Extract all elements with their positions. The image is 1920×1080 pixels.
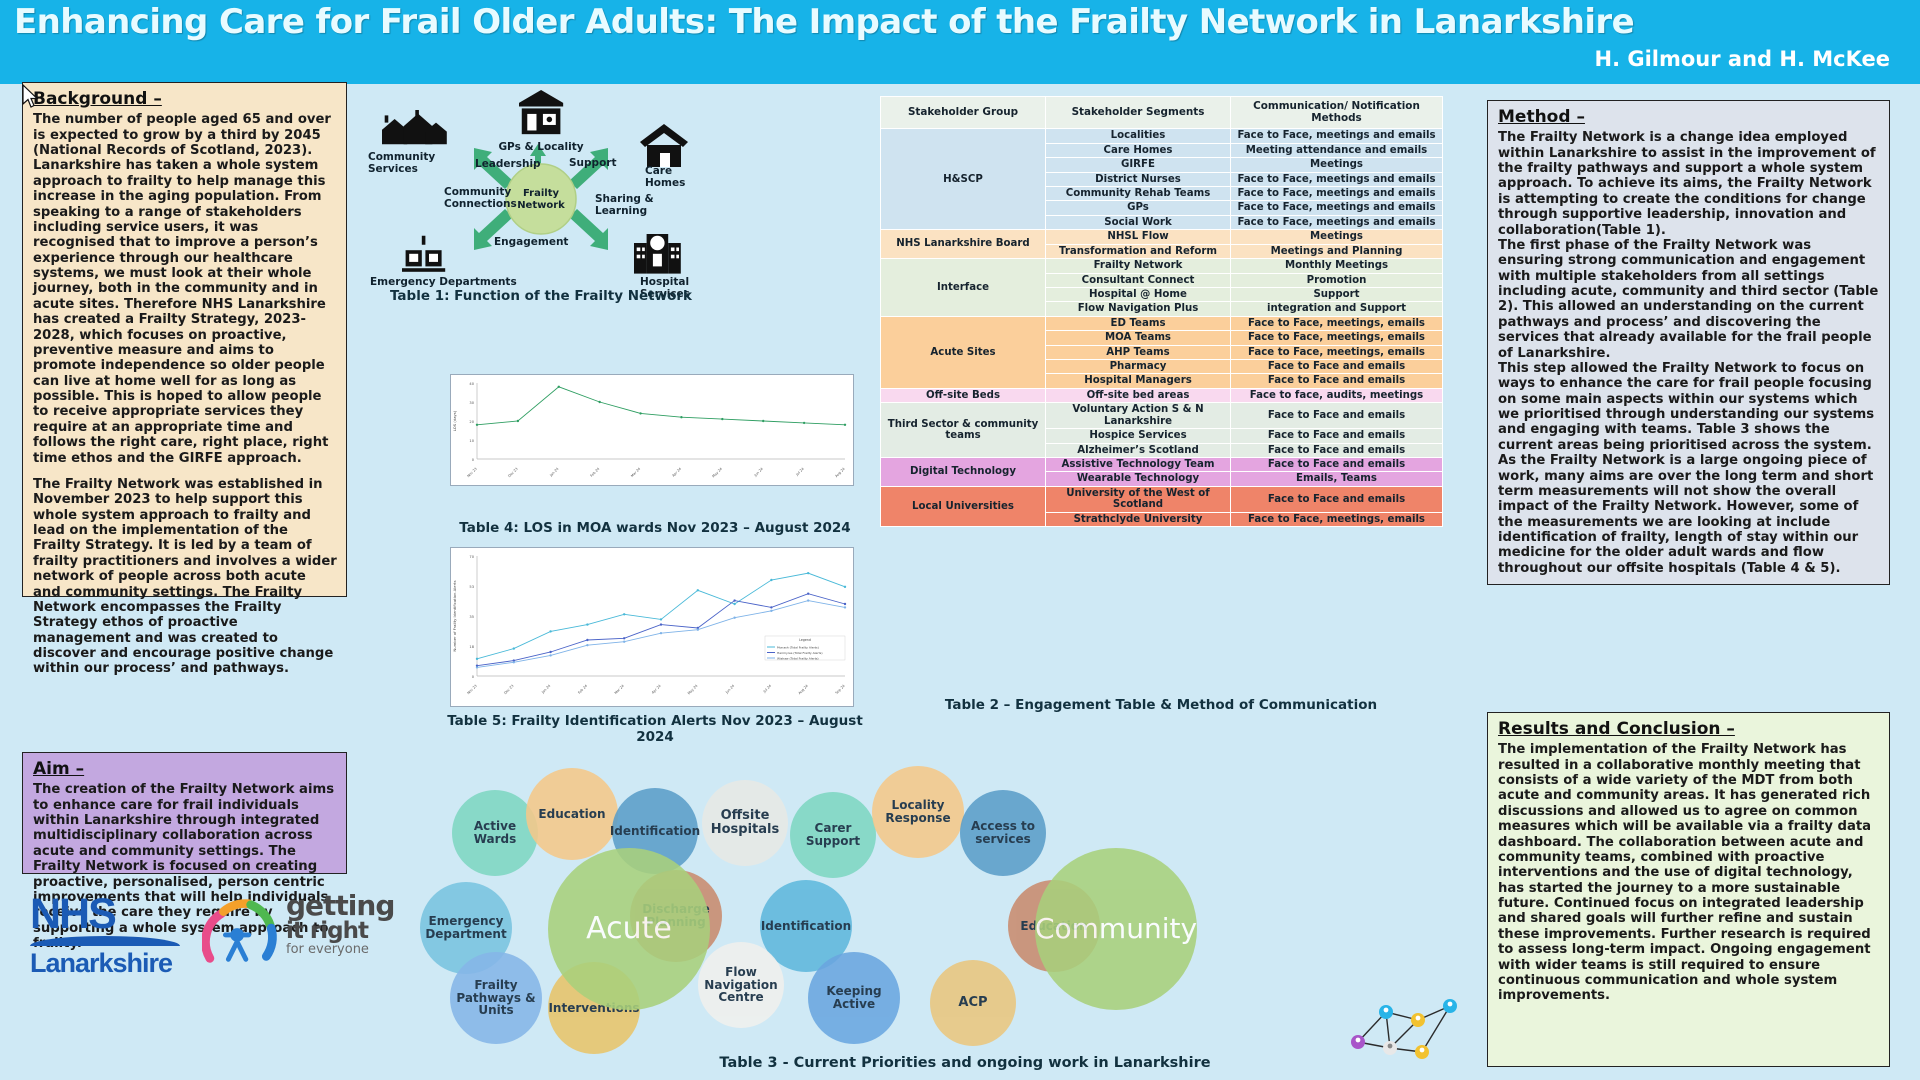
svg-text:May 24: May 24 (711, 467, 723, 479)
frailty-network-diagram-svg: GPs & Locality Community Services Care H… (362, 82, 720, 307)
priority-bubble: Education (526, 768, 618, 860)
svg-text:Connections: Connections (444, 198, 517, 210)
priority-bubble-label: Emergency Department (423, 915, 509, 941)
background-paragraph-1: The number of people aged 65 and over is… (33, 112, 338, 466)
svg-text:Legend: Legend (799, 638, 811, 642)
girfe-line-2: it right (286, 920, 394, 943)
cell-stakeholder-segment: Care Homes (1046, 143, 1231, 157)
svg-text:Dec 23: Dec 23 (503, 684, 514, 695)
priority-bubble-label: Carer Support (793, 822, 873, 848)
svg-text:Jul 24: Jul 24 (795, 467, 805, 477)
table-row: Local UniversitiesUniversity of the West… (881, 486, 1443, 512)
svg-text:Dec 23: Dec 23 (507, 467, 518, 478)
results-paragraph: The implementation of the Frailty Networ… (1498, 742, 1881, 1003)
svg-text:Jun 24: Jun 24 (753, 467, 764, 478)
svg-text:Nov 23: Nov 23 (466, 467, 477, 478)
table-row: Acute SitesED TeamsFace to Face, meeting… (881, 316, 1443, 330)
cell-communication-method: Support (1231, 287, 1443, 301)
svg-text:0: 0 (472, 458, 475, 462)
cell-stakeholder-segment: GIRFE (1046, 158, 1231, 172)
svg-text:53: 53 (469, 585, 474, 589)
cell-stakeholder-segment: Off-site bed areas (1046, 388, 1231, 402)
method-paragraph-2: The first phase of the Frailty Network w… (1498, 238, 1881, 361)
cell-communication-method: Face to Face, meetings, emails (1231, 512, 1443, 526)
background-paragraph-2: The Frailty Network was established in N… (33, 477, 338, 677)
centre-node-label-line1: Frailty (523, 188, 560, 199)
svg-text:Jun 24: Jun 24 (724, 684, 735, 695)
cell-communication-method: Face to Face, meetings and emails (1231, 129, 1443, 143)
priority-bubble-label: Identification (761, 920, 851, 933)
node-label-care-homes: Care (645, 165, 672, 177)
svg-text:LOS (days): LOS (days) (452, 410, 457, 431)
clinic-icon (519, 90, 563, 134)
priority-bubble-label: Active Wards (455, 820, 535, 846)
method-paragraph-1: The Frailty Network is a change idea emp… (1498, 130, 1881, 238)
aim-panel: Aim – The creation of the Frailty Networ… (22, 752, 347, 874)
background-panel: Background – The number of people aged 6… (22, 82, 347, 597)
priority-bubble-label: Education (538, 808, 605, 821)
cell-stakeholder-segment: Hospice Services (1046, 429, 1231, 443)
cell-stakeholder-segment: Strathclyde University (1046, 512, 1231, 526)
svg-text:Learning: Learning (595, 205, 647, 217)
cell-communication-method: Meetings and Planning (1231, 244, 1443, 258)
method-panel: Method – The Frailty Network is a change… (1487, 100, 1890, 585)
col-header-stakeholder-segments: Stakeholder Segments (1046, 97, 1231, 129)
cell-stakeholder-group: Local Universities (881, 486, 1046, 526)
background-heading: Background – (33, 89, 338, 110)
cell-stakeholder-segment: Assistive Technology Team (1046, 457, 1231, 471)
chart-table4-caption: Table 4: LOS in MOA wards Nov 2023 – Aug… (440, 520, 870, 536)
cell-stakeholder-segment: MOA Teams (1046, 331, 1231, 345)
cell-stakeholder-segment: GPs (1046, 201, 1231, 215)
girfe-wordmark: getting it right for everyone (286, 892, 394, 956)
priority-bubble-label: Access to services (963, 820, 1043, 846)
svg-text:40: 40 (469, 382, 474, 386)
cell-stakeholder-group: Interface (881, 259, 1046, 317)
priority-bubble: Locality Response (872, 766, 964, 858)
method-heading: Method – (1498, 107, 1881, 128)
svg-text:10: 10 (469, 439, 474, 443)
svg-text:0: 0 (472, 675, 475, 679)
cell-communication-method: Face to Face and emails (1231, 374, 1443, 388)
centre-node-label-line2: Network (517, 200, 565, 211)
cell-communication-method: Face to Face, meetings and emails (1231, 186, 1443, 200)
svg-text:Aug 24: Aug 24 (834, 467, 845, 478)
table1-diagram: GPs & Locality Community Services Care H… (362, 82, 720, 307)
table-row: Off-site BedsOff-site bed areasFace to f… (881, 388, 1443, 402)
cell-communication-method: Meetings (1231, 230, 1443, 244)
cell-communication-method: integration and Support (1231, 302, 1443, 316)
method-paragraph-3: This step allowed the Frailty Network to… (1498, 361, 1881, 453)
svg-text:Sep 24: Sep 24 (835, 684, 846, 695)
cell-stakeholder-segment: District Nurses (1046, 172, 1231, 186)
priority-bubble: Access to services (960, 790, 1046, 876)
cell-stakeholder-segment: Hospital @ Home (1046, 287, 1231, 301)
cell-communication-method: Face to Face, meetings and emails (1231, 201, 1443, 215)
cell-stakeholder-group: Acute Sites (881, 316, 1046, 388)
svg-text:Wishaw (Total Frailty Alerts): Wishaw (Total Frailty Alerts) (777, 656, 819, 660)
svg-text:Monash (Total Frailty Alerts): Monash (Total Frailty Alerts) (777, 645, 819, 649)
nhs-logo-subtext: Lanarkshire (30, 948, 172, 979)
cell-communication-method: Meetings (1231, 158, 1443, 172)
cell-stakeholder-group: Third Sector & community teams (881, 403, 1046, 458)
cell-stakeholder-segment: Consultant Connect (1046, 273, 1231, 287)
cell-stakeholder-segment: ED Teams (1046, 316, 1231, 330)
edge-label-support: Support (569, 157, 616, 169)
svg-text:30: 30 (469, 401, 474, 405)
cell-stakeholder-segment: Voluntary Action S & N Lanarkshire (1046, 403, 1231, 429)
cell-communication-method: Face to Face, meetings and emails (1231, 172, 1443, 186)
svg-text:70: 70 (469, 555, 474, 559)
cell-stakeholder-segment: Social Work (1046, 215, 1231, 229)
col-header-stakeholder-group: Stakeholder Group (881, 97, 1046, 129)
cell-stakeholder-group: Digital Technology (881, 457, 1046, 486)
svg-text:Homes: Homes (645, 177, 685, 189)
svg-text:Apr 24: Apr 24 (651, 684, 662, 695)
cell-communication-method: Face to Face and emails (1231, 443, 1443, 457)
priority-bubble-label: Acute (586, 913, 672, 945)
priority-bubble-label: Offsite Hospitals (705, 809, 785, 837)
cell-stakeholder-segment: Transformation and Reform (1046, 244, 1231, 258)
ed-icon (402, 236, 445, 272)
col-header-communication-methods: Communication/ Notification Methods (1231, 97, 1443, 129)
hospital-icon (634, 234, 681, 274)
edge-label-leadership: Leadership (475, 158, 541, 170)
cell-stakeholder-segment: Hospital Managers (1046, 374, 1231, 388)
girfe-arc-icon (202, 896, 280, 970)
svg-text:Aug 24: Aug 24 (798, 684, 809, 695)
aim-heading: Aim – (33, 759, 338, 780)
cell-stakeholder-group: H&SCP (881, 129, 1046, 230)
network-people-icon (1340, 990, 1470, 1070)
node-label-community-services: Community (368, 151, 435, 163)
table-row: Third Sector & community teamsVoluntary … (881, 403, 1443, 429)
priority-bubble: Keeping Active (808, 952, 900, 1044)
chart-table4: 010203040LOS (days)Nov 23Dec 23Jan 24Feb… (450, 374, 854, 486)
cell-communication-method: Face to Face, meetings and emails (1231, 215, 1443, 229)
cell-stakeholder-segment: Flow Navigation Plus (1046, 302, 1231, 316)
table1-caption: Table 1: Function of the Frailty Network (362, 288, 720, 304)
method-paragraph-4: As the Frailty Network is a large ongoin… (1498, 453, 1881, 576)
chart-table5: 018355370Number of Frailty Identificatio… (450, 547, 854, 707)
table-row: NHS Lanarkshire BoardNHSL FlowMeetings (881, 230, 1443, 244)
cell-stakeholder-segment: Pharmacy (1046, 360, 1231, 374)
cell-communication-method: Face to Face and emails (1231, 360, 1443, 374)
cell-communication-method: Face to Face, meetings, emails (1231, 331, 1443, 345)
svg-text:Services: Services (368, 163, 418, 175)
cell-stakeholder-segment: Frailty Network (1046, 259, 1231, 273)
cell-communication-method: Face to Face and emails (1231, 429, 1443, 443)
cell-stakeholder-segment: NHSL Flow (1046, 230, 1231, 244)
priority-bubble-label: Community (1035, 914, 1197, 944)
cell-communication-method: Promotion (1231, 273, 1443, 287)
edge-label-sharing-learning: Sharing & (595, 193, 654, 205)
cell-stakeholder-segment: University of the West of Scotland (1046, 486, 1231, 512)
cell-communication-method: Face to Face, meetings, emails (1231, 345, 1443, 359)
priority-bubble: Community (1035, 848, 1197, 1010)
svg-text:35: 35 (469, 615, 474, 619)
priority-bubble: Flow Navigation Centre (698, 942, 784, 1028)
node-label-hospital-services: Hospital (640, 276, 689, 288)
priority-bubble: ACP (930, 960, 1016, 1046)
nhs-lanarkshire-logo: NHS Lanarkshire (30, 890, 190, 985)
priority-bubble-label: ACP (958, 996, 987, 1010)
cell-communication-method: Monthly Meetings (1231, 259, 1443, 273)
cell-stakeholder-segment: Wearable Technology (1046, 472, 1231, 486)
cell-stakeholder-group: NHS Lanarkshire Board (881, 230, 1046, 259)
engagement-table: Stakeholder Group Stakeholder Segments C… (880, 96, 1443, 527)
cell-communication-method: Meeting attendance and emails (1231, 143, 1443, 157)
houses-icon (382, 110, 447, 144)
table-row: InterfaceFrailty NetworkMonthly Meetings (881, 259, 1443, 273)
edge-label-community-connections: Community (444, 186, 511, 198)
priority-bubble-label: Keeping Active (811, 985, 897, 1011)
priority-bubble-label: Identification (610, 825, 700, 838)
cell-communication-method: Face to Face, meetings, emails (1231, 316, 1443, 330)
girfe-line-1: getting (286, 892, 394, 920)
priority-bubble-label: Locality Response (875, 799, 961, 825)
logo-row: NHS Lanarkshire getting it right for eve… (22, 890, 442, 990)
authors: H. Gilmour and H. McKee (1595, 47, 1891, 71)
cell-stakeholder-segment: Community Rehab Teams (1046, 186, 1231, 200)
svg-text:Number of Frailty Identificati: Number of Frailty Identification Alerts (452, 580, 457, 651)
girfe-line-3: for everyone (286, 943, 394, 956)
table-header-row: Stakeholder Group Stakeholder Segments C… (881, 97, 1443, 129)
page-title: Enhancing Care for Frail Older Adults: T… (14, 2, 1904, 42)
priority-bubble: Carer Support (790, 792, 876, 878)
priority-bubble: Acute (548, 848, 710, 1010)
table-row: Digital TechnologyAssistive Technology T… (881, 457, 1443, 471)
cell-communication-method: Face to Face and emails (1231, 457, 1443, 471)
girfe-logo: getting it right for everyone (202, 892, 442, 982)
cell-communication-method: Face to Face and emails (1231, 486, 1443, 512)
table-row: H&SCPLocalitiesFace to Face, meetings an… (881, 129, 1443, 143)
table2-caption: Table 2 – Engagement Table & Method of C… (880, 697, 1442, 713)
priority-bubble: Active Wards (452, 790, 538, 876)
svg-text:18: 18 (469, 645, 474, 649)
chart-table5-caption: Table 5: Frailty Identification Alerts N… (430, 713, 880, 745)
svg-text:20: 20 (469, 420, 474, 424)
poster-header: Enhancing Care for Frail Older Adults: T… (0, 0, 1920, 84)
svg-text:May 24: May 24 (687, 684, 699, 696)
table2-wrapper: Stakeholder Group Stakeholder Segments C… (880, 96, 1442, 527)
node-label-gps: GPs & Locality (498, 141, 583, 153)
svg-text:Jul 24: Jul 24 (762, 684, 772, 694)
svg-text:Mar 24: Mar 24 (614, 684, 625, 695)
cell-communication-method: Face to Face and emails (1231, 403, 1443, 429)
nhs-logo-text: NHS (30, 890, 115, 939)
cell-stakeholder-segment: AHP Teams (1046, 345, 1231, 359)
node-label-emergency-departments: Emergency Departments (370, 276, 517, 288)
mouse-cursor (22, 84, 40, 110)
priority-bubble: Offsite Hospitals (702, 780, 788, 866)
cell-stakeholder-segment: Localities (1046, 129, 1231, 143)
priority-bubble-label: Flow Navigation Centre (701, 966, 781, 1005)
priority-bubble-label: Frailty Pathways & Units (453, 979, 539, 1018)
svg-text:Mar 24: Mar 24 (630, 467, 641, 478)
edge-label-engagement: Engagement (494, 236, 568, 248)
svg-text:Nov 23: Nov 23 (466, 684, 477, 695)
svg-text:Feb 24: Feb 24 (589, 467, 600, 478)
poster-canvas: Enhancing Care for Frail Older Adults: T… (0, 0, 1920, 1080)
house-icon (640, 124, 688, 167)
cell-communication-method: Emails, Teams (1231, 472, 1443, 486)
svg-text:Feb 24: Feb 24 (577, 684, 588, 695)
cell-communication-method: Face to face, audits, meetings (1231, 388, 1443, 402)
results-panel: Results and Conclusion – The implementat… (1487, 712, 1890, 1067)
svg-text:Hairmyres (Total Frailty Alert: Hairmyres (Total Frailty Alerts) (777, 651, 823, 655)
priority-bubble: Frailty Pathways & Units (450, 952, 542, 1044)
cell-stakeholder-group: Off-site Beds (881, 388, 1046, 402)
results-heading: Results and Conclusion – (1498, 719, 1881, 740)
svg-text:Jan 24: Jan 24 (540, 684, 551, 695)
svg-text:Apr 24: Apr 24 (671, 467, 682, 478)
cell-stakeholder-segment: Alzheimer’s Scotland (1046, 443, 1231, 457)
svg-text:Jan 24: Jan 24 (548, 467, 559, 478)
